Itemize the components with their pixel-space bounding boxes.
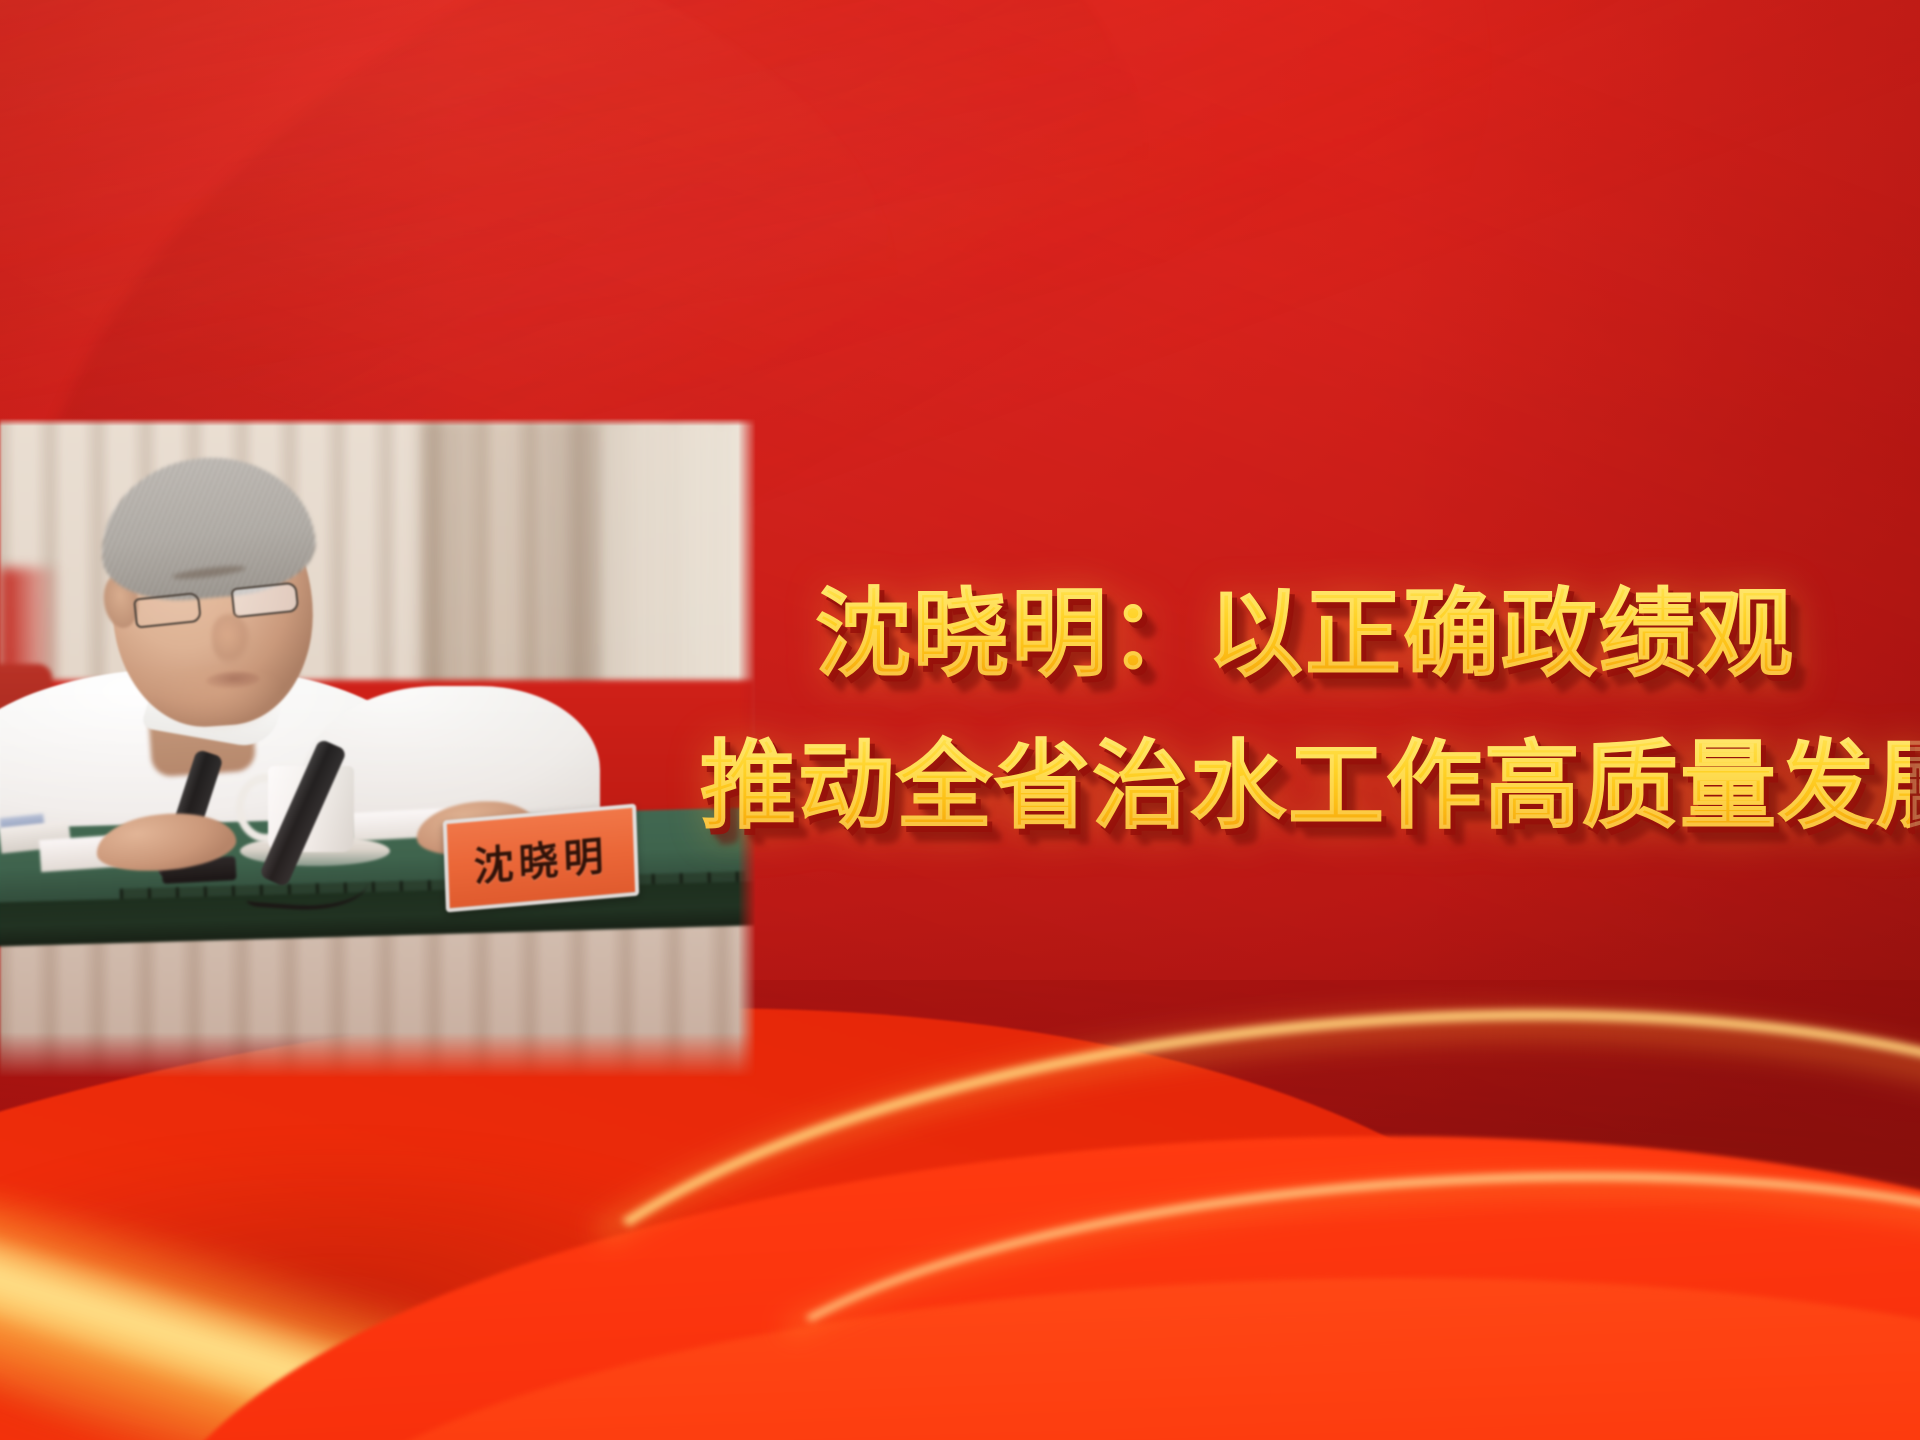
ribbon-red-fill-1 [122,1083,1920,1440]
headline-line-1: 沈晓明：以正确政绩观 [700,560,1910,708]
ribbon-gold-arc-2-glow [661,1136,1920,1440]
ribbon-red-fill-2 [272,1245,1920,1440]
ribbon-gold-diagonal-glow [0,1081,1326,1440]
headline-block: 沈晓明：以正确政绩观 推动全省治水工作高质量发展 [700,560,1910,860]
headline-line-2: 推动全省治水工作高质量发展 [700,712,1910,860]
speaker-photo: 沈晓明 [0,418,756,1078]
ribbon-gold-diagonal-core [0,1142,1096,1440]
ribbon-gold-arc-2 [694,1137,1920,1440]
speaker-photo-inner: 沈晓明 [0,418,756,1078]
photo-color-cast [0,418,756,1078]
ribbon-left-shadow [0,1100,940,1440]
banner-canvas: 沈晓明 沈晓明：以正确政绩观 推动全省治水工作高质量发展 [0,0,1920,1440]
